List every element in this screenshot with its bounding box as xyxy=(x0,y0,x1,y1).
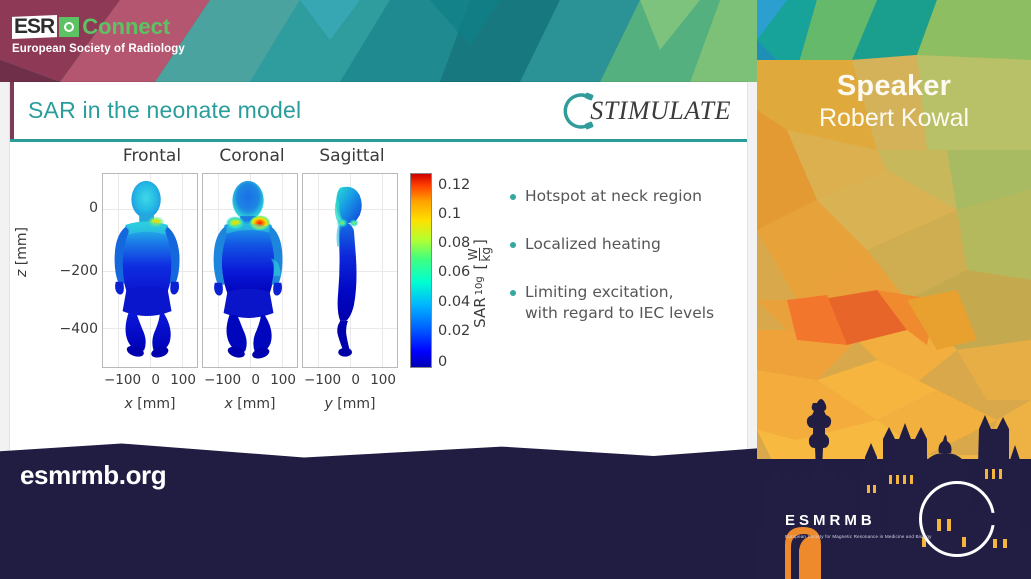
heatmap-panels xyxy=(102,173,398,368)
bullet-list: Hotspot at neck region Localized heating… xyxy=(510,186,742,351)
y-axis-label: z [mm] xyxy=(14,227,30,277)
esmrmb-tagline: European Society for Magnetic Resonance … xyxy=(785,534,932,539)
y-tick-m200: −200 xyxy=(60,263,98,279)
speaker-rail: Speaker Robert Kowal ESMRMB European Soc… xyxy=(757,0,1031,579)
bullet-text: Hotspot at neck region xyxy=(525,186,702,207)
bullet-item: Localized heating xyxy=(510,234,742,255)
x-ticks-panel-1: −100 0 100 xyxy=(102,372,198,388)
slide-viewer: ESR Connect European Society of Radiolog… xyxy=(0,0,757,509)
panel-title-coronal: Coronal xyxy=(202,146,302,166)
esmrmb-wordmark: ESMRMB xyxy=(785,512,876,529)
presentation-slide[interactable]: SAR in the neonate model STIMULATE Front… xyxy=(10,82,747,502)
bullet-text: Localized heating xyxy=(525,234,661,255)
colorbar-axis-label: SAR10g [ W kg ] xyxy=(467,239,492,328)
bullet-item: Hotspot at neck region xyxy=(510,186,742,207)
speaker-info: Speaker Robert Kowal xyxy=(757,70,1031,133)
bullet-item: Limiting excitation, with regard to IEC … xyxy=(510,282,742,324)
screenshot-root: ESR Connect European Society of Radiolog… xyxy=(0,0,1031,579)
y-tick-0: 0 xyxy=(89,200,98,216)
y-axis-ticks: 0 −200 −400 xyxy=(52,173,98,368)
esr-wordmark: ESR xyxy=(12,15,57,39)
coronal-sar-map xyxy=(203,174,297,365)
esmrmb-ring-icon xyxy=(919,481,995,557)
stimulate-wordmark: STIMULATE xyxy=(590,96,731,126)
bullet-dot-icon xyxy=(510,242,516,248)
sar-heatmap-figure: Frontal Coronal Sagittal 0 −200 −400 z [… xyxy=(24,146,494,426)
x-axis-label-panel-1: x [mm] xyxy=(102,396,198,412)
slide-content: Frontal Coronal Sagittal 0 −200 −400 z [… xyxy=(10,142,747,477)
panel-coronal[interactable] xyxy=(202,173,298,368)
esr-target-icon xyxy=(59,17,79,37)
esr-subtitle: European Society of Radiology xyxy=(12,43,252,55)
x-ticks-panel-2: −100 0 100 xyxy=(202,372,298,388)
esr-connect-logo: ESR Connect European Society of Radiolog… xyxy=(12,14,252,59)
slide-title: SAR in the neonate model xyxy=(28,97,301,124)
bullet-text: Limiting excitation, with regard to IEC … xyxy=(525,282,714,324)
frontal-sar-map xyxy=(103,174,197,365)
x-axis-tick-rows: −100 0 100 −100 0 100 −100 0 100 xyxy=(102,372,398,388)
esmrmb-website-label[interactable]: esmrmb.org xyxy=(20,460,166,491)
x-axis-label-panel-2: x [mm] xyxy=(202,396,298,412)
colorbar-gradient xyxy=(410,173,432,368)
panel-title-row: Frontal Coronal Sagittal xyxy=(102,146,402,166)
connect-wordmark: Connect xyxy=(82,16,170,38)
bullet-dot-icon xyxy=(510,290,516,296)
x-axis-label-panel-3: y [mm] xyxy=(302,396,398,412)
speaker-name: Robert Kowal xyxy=(757,104,1031,133)
panel-title-frontal: Frontal xyxy=(102,146,202,166)
slide-header: SAR in the neonate model STIMULATE xyxy=(10,82,747,142)
colorbar-group: 0.12 0.1 0.08 0.06 0.04 0.02 0 SAR10g [ xyxy=(410,173,432,368)
sagittal-sar-map xyxy=(303,174,397,365)
panel-sagittal[interactable] xyxy=(302,173,398,368)
x-axis-label-row: x [mm] x [mm] y [mm] xyxy=(102,396,398,412)
stimulate-logo: STIMULATE xyxy=(556,88,735,134)
x-ticks-panel-3: −100 0 100 xyxy=(302,372,398,388)
panel-frontal[interactable] xyxy=(102,173,198,368)
speaker-label: Speaker xyxy=(757,70,1031,103)
panel-title-sagittal: Sagittal xyxy=(302,146,402,166)
esmrmb-logo: ESMRMB European Society for Magnetic Res… xyxy=(757,463,1031,573)
y-tick-m400: −400 xyxy=(60,321,98,337)
bullet-dot-icon xyxy=(510,194,516,200)
